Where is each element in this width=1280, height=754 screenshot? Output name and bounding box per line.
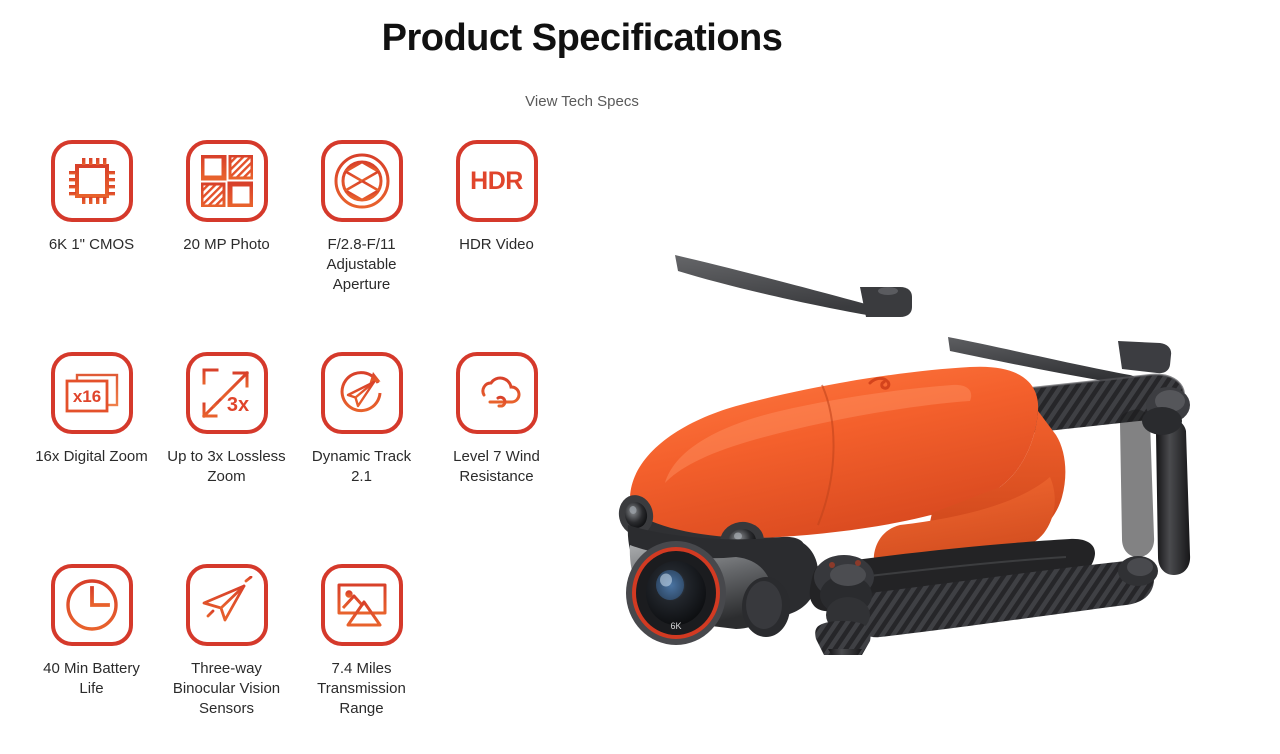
view-tech-specs-link[interactable]: View Tech Specs	[0, 91, 1164, 113]
spec-item-dynamic-track[interactable]: Dynamic Track 2.1	[294, 352, 429, 564]
expand-arrows-zoom-icon: 3x	[186, 352, 268, 434]
spec-grid: 6K 1" CMOS	[24, 140, 564, 754]
aperture-icon	[321, 140, 403, 222]
spec-label: Three-way Binocular Vision Sensors	[166, 659, 288, 719]
spec-label: 7.4 Miles Transmission Range	[301, 659, 423, 719]
spec-row: 6K 1" CMOS	[24, 140, 564, 352]
spec-label: HDR Video	[459, 235, 534, 255]
spec-label: 40 Min Battery Life	[31, 659, 153, 699]
spec-item-digital-zoom[interactable]: x16 16x Digital Zoom	[24, 352, 159, 564]
spec-item-hdr[interactable]: HDR HDR Video	[429, 140, 564, 352]
spec-label: 6K 1" CMOS	[49, 235, 134, 255]
tracking-paper-plane-icon	[321, 352, 403, 434]
spec-item-wind-resistance[interactable]: Level 7 Wind Resistance	[429, 352, 564, 564]
spec-label: Level 7 Wind Resistance	[436, 447, 558, 487]
hdr-glyph: HDR	[470, 167, 523, 196]
spec-label: Up to 3x Lossless Zoom	[166, 447, 288, 487]
spec-item-aperture[interactable]: F/2.8-F/11 Adjustable Aperture	[294, 140, 429, 352]
spec-label: 20 MP Photo	[183, 235, 269, 255]
stacked-frames-zoom-icon: x16	[51, 352, 133, 434]
svg-text:3x: 3x	[226, 394, 248, 416]
spec-item-cmos[interactable]: 6K 1" CMOS	[24, 140, 159, 352]
spec-row: 40 Min Battery Life	[24, 564, 564, 754]
product-specifications-page: Product Specifications View Tech Specs	[0, 0, 1280, 754]
spec-item-lossless-zoom[interactable]: 3x Up to 3x Lossless Zoom	[159, 352, 294, 564]
cpu-chip-icon	[51, 140, 133, 222]
spec-item-photo[interactable]: 20 MP Photo	[159, 140, 294, 352]
spec-item-battery-life[interactable]: 40 Min Battery Life	[24, 564, 159, 754]
spec-label: Dynamic Track 2.1	[301, 447, 423, 487]
paper-plane-sensors-icon	[186, 564, 268, 646]
spec-label: 16x Digital Zoom	[35, 447, 148, 467]
clock-icon	[51, 564, 133, 646]
camera-marking: 6K	[670, 621, 681, 631]
hdr-text-icon: HDR	[456, 140, 538, 222]
spec-label: F/2.8-F/11 Adjustable Aperture	[301, 235, 423, 295]
svg-text:x16: x16	[72, 387, 100, 406]
spec-item-vision-sensors[interactable]: Three-way Binocular Vision Sensors	[159, 564, 294, 754]
quad-squares-icon	[186, 140, 268, 222]
spec-item-empty	[429, 564, 564, 754]
spec-row: x16 16x Digital Zoom	[24, 352, 564, 564]
page-title: Product Specifications	[0, 14, 1164, 62]
wind-cloud-icon	[456, 352, 538, 434]
spec-item-transmission-range[interactable]: 7.4 Miles Transmission Range	[294, 564, 429, 754]
image-frame-icon	[321, 564, 403, 646]
product-image-drone: 6K	[570, 225, 1280, 655]
